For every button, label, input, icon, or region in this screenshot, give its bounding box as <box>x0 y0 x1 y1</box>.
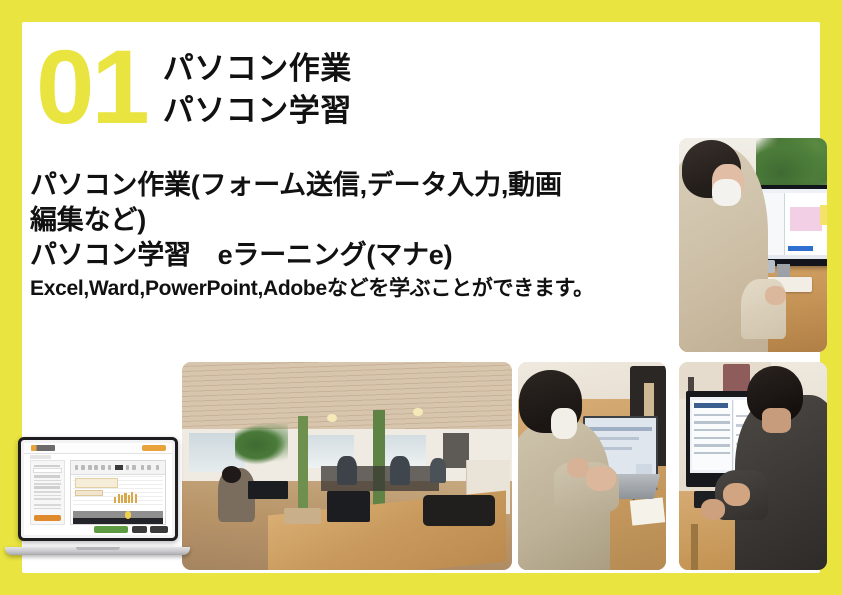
photo-imac <box>679 138 827 352</box>
body-line-4: Excel,Ward,PowerPoint,Adobeなどを学ぶことができます。 <box>30 275 670 303</box>
mockup-sheet-subtable <box>75 490 103 496</box>
mockup-header-button[interactable] <box>142 445 166 451</box>
mockup-sidebar-text <box>34 491 61 493</box>
photo-desktop <box>679 362 827 570</box>
ribbon-icon[interactable] <box>108 465 112 470</box>
desktop-screen-line <box>694 452 730 454</box>
mockup-sidebar <box>30 460 66 524</box>
chart-bar <box>114 497 116 503</box>
mockup-sidebar-text <box>34 508 61 510</box>
body-line-2: 編集など) <box>30 203 670 238</box>
mockup-sidebar-cta-button[interactable] <box>34 515 61 521</box>
ribbon-icon[interactable] <box>75 465 79 470</box>
office-laptop-1 <box>248 481 288 500</box>
office-wood-ceiling <box>182 362 512 429</box>
desktop-screen-line <box>694 444 730 446</box>
mockup-tertiary-action-button[interactable] <box>150 526 168 533</box>
chart-bar <box>124 493 126 502</box>
office-tabletop-box <box>284 508 320 525</box>
office-person-3 <box>390 456 410 485</box>
slide-header: 01 パソコン作業 パソコン学習 <box>36 34 352 138</box>
imac-screen-note <box>820 205 827 226</box>
ribbon-icon[interactable] <box>81 465 85 470</box>
page-title-line-1: パソコン作業 <box>163 48 352 90</box>
office-green-pillar-2 <box>373 410 385 510</box>
mana-e-logo-icon <box>31 445 55 451</box>
header-title-group: パソコン作業 パソコン学習 <box>163 34 352 132</box>
section-number: 01 <box>36 34 147 138</box>
desktop-screen-line <box>694 421 730 423</box>
office-person-1-head <box>222 466 242 483</box>
imac-stand <box>777 264 790 277</box>
body-copy-block: パソコン作業(フォーム送信,データ入力,動画 編集など) パソコン学習 eラーニ… <box>30 168 670 304</box>
ribbon-icon[interactable] <box>141 465 145 470</box>
laptop-mockup-base <box>5 547 190 555</box>
photo-laptop-content <box>518 362 666 570</box>
face-mask-icon <box>551 408 578 439</box>
imac-screen-selection <box>788 246 812 251</box>
page-title-line-2: パソコン学習 <box>163 90 352 132</box>
body-line-3: パソコン学習 eラーニング(マナe) <box>30 238 670 273</box>
mockup-sidebar-text <box>34 480 61 482</box>
office-person-2 <box>337 456 357 485</box>
mockup-secondary-action-button[interactable] <box>132 526 147 533</box>
laptop-mockup-screen <box>24 443 172 535</box>
mockup-sidebar-label <box>34 486 61 488</box>
mockup-sheet-title-box <box>75 478 118 488</box>
mockup-sidebar-text <box>34 504 61 506</box>
office-plant <box>235 424 288 466</box>
office-laptop-front <box>327 491 370 522</box>
ribbon-icon[interactable] <box>126 465 130 470</box>
mockup-sidebar-field[interactable] <box>33 468 62 473</box>
photo-laptop <box>518 362 666 570</box>
mockup-sheet-chart <box>114 488 142 503</box>
mockup-content-pane <box>70 460 166 524</box>
desktop-photo-person-hand-right <box>723 483 750 506</box>
office-person-4 <box>430 458 447 483</box>
ribbon-icon[interactable] <box>88 465 92 470</box>
mockup-sidebar-text <box>34 483 61 485</box>
ceiling-light-2-icon <box>413 408 423 416</box>
photo-office-content <box>182 362 512 570</box>
mockup-video-bar[interactable] <box>73 518 163 524</box>
photo-imac-content <box>679 138 827 352</box>
ribbon-icon[interactable] <box>101 465 105 470</box>
desktop-screen-line <box>694 414 730 416</box>
mockup-sidebar-label <box>34 475 61 477</box>
chart-bar <box>118 494 120 502</box>
desktop-screen-line <box>694 429 730 431</box>
chart-bar <box>128 495 130 503</box>
laptop-mockup-lid <box>18 437 178 541</box>
imac-screen-highlight <box>790 207 822 231</box>
mockup-primary-action-button[interactable] <box>94 526 128 533</box>
desktop-screen-header <box>694 403 728 408</box>
laptop-mockup <box>5 437 190 555</box>
ribbon-icon[interactable] <box>94 465 98 470</box>
ribbon-icon[interactable] <box>156 465 160 470</box>
mockup-app-header <box>24 443 172 454</box>
mockup-sidebar-label <box>34 465 61 467</box>
body-line-1: パソコン作業(フォーム送信,データ入力,動画 <box>30 168 670 203</box>
mockup-sidebar-text <box>34 495 61 497</box>
desktop-photo-shelf-item <box>723 364 750 393</box>
imac-person-hand <box>765 286 786 305</box>
laptop-screen-row-1 <box>589 427 652 431</box>
desktop-photo-person-neck <box>762 408 792 433</box>
laptop-mockup-notch <box>76 547 120 550</box>
photo-desktop-content <box>679 362 827 570</box>
desktop-screen-left-panel <box>692 400 733 470</box>
chart-bar <box>135 494 137 503</box>
mockup-sidebar-text <box>34 498 61 500</box>
office-bag <box>423 495 496 526</box>
ribbon-active-icon[interactable] <box>115 465 123 471</box>
photo-office <box>182 362 512 570</box>
desktop-photo-person-hand-left <box>701 499 725 520</box>
mockup-footer-actions <box>94 526 168 533</box>
chart-bar <box>121 495 123 502</box>
mockup-breadcrumb <box>30 455 51 459</box>
slide-root: 01 パソコン作業 パソコン学習 パソコン作業(フォーム送信,データ入力,動画 … <box>0 0 842 595</box>
desktop-photo-desk-leg <box>691 524 698 570</box>
face-mask-icon <box>712 179 742 207</box>
cursor-highlight-icon <box>125 511 132 518</box>
office-green-pillar-1 <box>298 416 309 510</box>
laptop-screen-cell <box>636 464 652 474</box>
ribbon-icon[interactable] <box>147 465 151 470</box>
mockup-spreadsheet-ribbon[interactable] <box>71 461 165 474</box>
ribbon-icon[interactable] <box>132 465 136 470</box>
mockup-status-strip <box>73 511 163 517</box>
desktop-screen-line <box>694 437 730 439</box>
laptop-photo-paper <box>629 498 664 526</box>
chart-bar <box>131 492 133 502</box>
laptop-photo-person-hand-right <box>586 466 616 491</box>
